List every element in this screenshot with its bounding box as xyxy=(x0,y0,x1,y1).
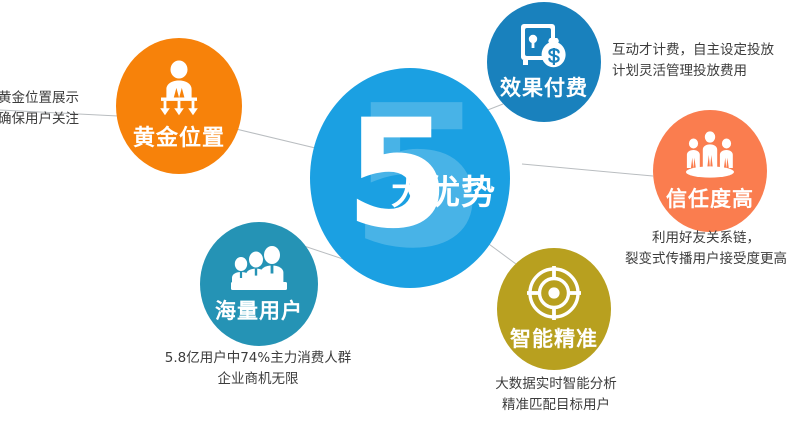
safe-money-bag-icon xyxy=(519,22,569,70)
node-pay-for-performance-label: 效果付费 xyxy=(500,72,588,102)
caption-smart-precision-line-2: 精准匹配目标用户 xyxy=(452,395,660,416)
crosshair-target-icon xyxy=(527,266,581,320)
node-massive-users[interactable]: 海量用户 xyxy=(200,222,318,346)
caption-golden-position-line-1: 黄金位置展示 xyxy=(0,88,79,109)
node-high-trust-label: 信任度高 xyxy=(666,183,754,213)
node-golden-position[interactable]: 黄金位置 xyxy=(116,38,242,174)
three-people-podium-icon xyxy=(682,130,738,180)
caption-golden-position: 黄金位置展示 确保用户关注 xyxy=(0,88,79,130)
node-golden-position-label: 黄金位置 xyxy=(133,120,225,152)
hub-subtitle: 大优势 xyxy=(391,176,496,210)
node-massive-users-label: 海量用户 xyxy=(215,295,303,325)
node-smart-precision[interactable]: 智能精准 xyxy=(497,248,611,370)
caption-smart-precision-line-1: 大数据实时智能分析 xyxy=(452,374,660,395)
caption-high-trust-line-2: 裂变式传播用户接受度更高 xyxy=(608,249,804,270)
person-with-down-arrows-icon xyxy=(152,60,206,116)
caption-smart-precision: 大数据实时智能分析 精准匹配目标用户 xyxy=(452,374,660,416)
caption-pay-for-performance-line-2: 计划灵活管理投放费用 xyxy=(612,61,774,82)
caption-pay-for-performance-line-1: 互动才计费，自主设定投放 xyxy=(612,40,774,61)
center-hub: 5 5 大优势 xyxy=(310,68,510,288)
connector-trust xyxy=(522,164,653,176)
node-smart-precision-label: 智能精准 xyxy=(510,323,598,353)
caption-massive-users-line-2: 企业商机无限 xyxy=(138,369,378,390)
node-pay-for-performance[interactable]: 效果付费 xyxy=(487,2,601,122)
caption-pay-for-performance: 互动才计费，自主设定投放 计划灵活管理投放费用 xyxy=(612,40,774,82)
infographic-canvas: 5 5 大优势 xyxy=(0,0,807,426)
caption-high-trust-line-1: 利用好友关系链， xyxy=(608,228,804,249)
caption-massive-users-line-1: 5.8亿用户中74%主力消费人群 xyxy=(138,348,378,369)
caption-golden-position-line-2: 确保用户关注 xyxy=(0,109,79,130)
caption-high-trust: 利用好友关系链， 裂变式传播用户接受度更高 xyxy=(608,228,804,270)
crowd-of-people-icon xyxy=(229,244,289,292)
node-high-trust[interactable]: 信任度高 xyxy=(653,110,767,232)
caption-massive-users: 5.8亿用户中74%主力消费人群 企业商机无限 xyxy=(138,348,378,390)
